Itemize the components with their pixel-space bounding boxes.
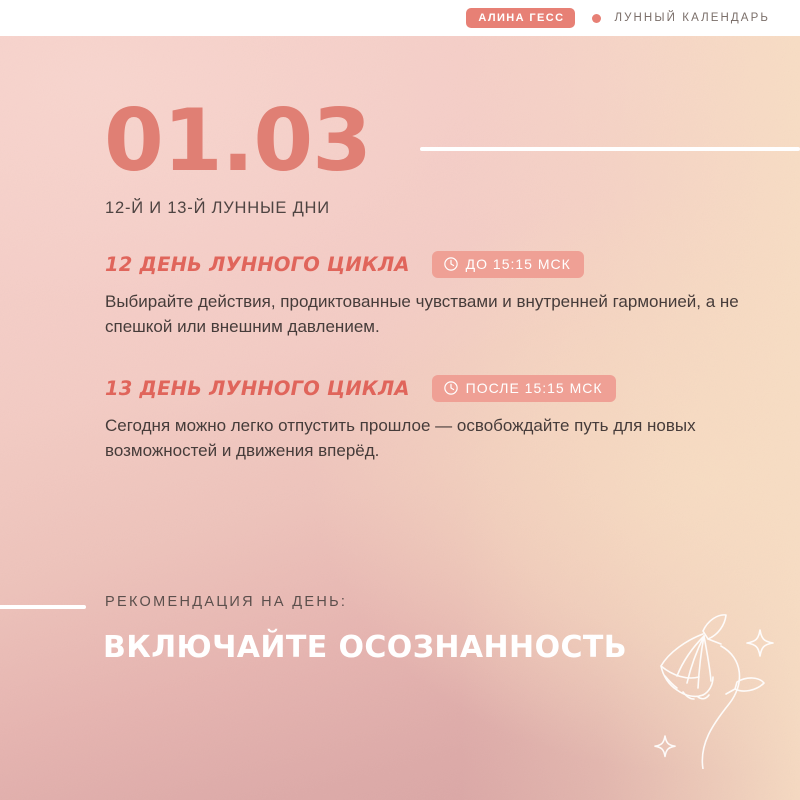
recommendation-label: РЕКОМЕНДАЦИЯ НА ДЕНЬ: (105, 594, 347, 610)
header-subtitle: ЛУННЫЙ КАЛЕНДАРЬ (614, 12, 770, 24)
time-badge-label: ПОСЛЕ 15:15 МСК (466, 380, 603, 397)
section-body-text: Выбирайте действия, продиктованные чувст… (105, 289, 765, 339)
section-title: 13 ДЕНЬ ЛУННОГО ЦИКЛА (105, 377, 410, 400)
section-header: 12 ДЕНЬ ЛУННОГО ЦИКЛА ДО 15:15 МСК (105, 251, 765, 278)
clock-icon (443, 256, 459, 272)
lunar-day-section-12: 12 ДЕНЬ ЛУННОГО ЦИКЛА ДО 15:15 МСК Выбир… (105, 251, 765, 339)
time-badge-label: ДО 15:15 МСК (466, 256, 571, 273)
recommendation-title: ВКЛЮЧАЙТЕ ОСОЗНАННОСТЬ (103, 630, 627, 665)
poster-canvas: АЛИНА ГЕСС ЛУННЫЙ КАЛЕНДАРЬ 01.03 12-Й И… (0, 0, 800, 800)
flower-line-art-icon (625, 584, 800, 769)
poster-content: 01.03 12-Й И 13-Й ЛУННЫЕ ДНИ 12 ДЕНЬ ЛУН… (0, 36, 800, 800)
page-title-date: 01.03 (104, 98, 371, 184)
section-header: 13 ДЕНЬ ЛУННОГО ЦИКЛА ПОСЛЕ 15:15 МСК (105, 375, 765, 402)
brand-badge[interactable]: АЛИНА ГЕСС (466, 8, 575, 29)
section-title: 12 ДЕНЬ ЛУННОГО ЦИКЛА (105, 253, 410, 276)
date-divider-rule (420, 147, 800, 151)
lunar-day-section-13: 13 ДЕНЬ ЛУННОГО ЦИКЛА ПОСЛЕ 15:15 МСК Се… (105, 375, 765, 463)
time-badge[interactable]: ДО 15:15 МСК (432, 251, 584, 278)
dot-icon (592, 14, 601, 23)
clock-icon (443, 380, 459, 396)
header-bar: АЛИНА ГЕСС ЛУННЫЙ КАЛЕНДАРЬ (0, 0, 800, 36)
recommendation-divider-rule (0, 605, 86, 609)
section-body-text: Сегодня можно легко отпустить прошлое — … (105, 413, 765, 463)
time-badge[interactable]: ПОСЛЕ 15:15 МСК (432, 375, 616, 402)
lunar-days-subtitle: 12-Й И 13-Й ЛУННЫЕ ДНИ (105, 199, 330, 218)
